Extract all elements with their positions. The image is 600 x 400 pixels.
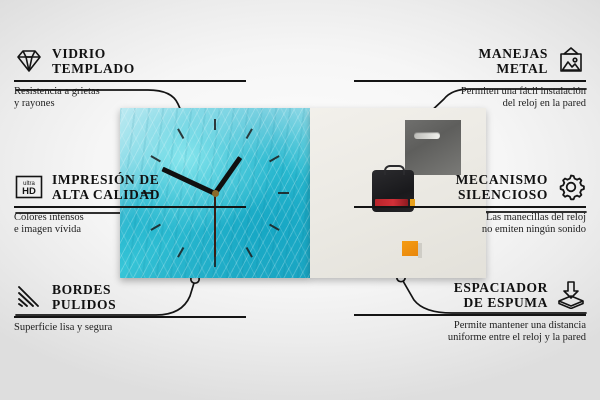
callout-rule [14, 80, 246, 82]
callout-rule [354, 206, 586, 208]
callout-description: Resistencia a grietas y rayones [14, 86, 246, 111]
callout-rule [14, 316, 246, 318]
callout-description: Las manecillas del reloj no emiten ningú… [354, 212, 586, 237]
clock-tick [246, 247, 253, 258]
wall-hanging-frame-icon [556, 47, 586, 75]
clock-tick [269, 155, 280, 162]
callout-title: BORDES PULIDOS [52, 282, 116, 312]
callout-description: Permite mantener una distancia uniforme … [354, 320, 586, 345]
callout-rule [354, 80, 586, 82]
clock-tick [246, 128, 253, 139]
clock-tick [177, 128, 184, 139]
callout-title: MANEJAS METAL [479, 46, 548, 76]
callout-manejas-metal: MANEJAS METAL Permiten una fácil instala… [354, 46, 586, 111]
callout-mecanismo-silencioso: MECANISMO SILENCIOSO Las manecillas del … [354, 172, 586, 237]
gear-icon [556, 173, 586, 201]
hanger-slot [414, 132, 440, 139]
callout-bordes-pulidos: BORDES PULIDOS Superficie lisa y segura [14, 282, 246, 334]
clock-tick [177, 247, 184, 258]
clock-tick [269, 224, 280, 231]
clock-tick [150, 155, 161, 162]
clock-tick [214, 119, 216, 130]
infographic-canvas: VIDRIO TEMPLADO Resistencia a grietas y … [0, 0, 600, 400]
foam-spacer-arrow-icon [556, 281, 586, 309]
metal-hanger-plate [405, 120, 461, 175]
callout-rule [354, 314, 586, 316]
ultra-hd-icon: ultra HD [14, 173, 44, 201]
callout-espaciador-espuma: ESPACIADOR DE ESPUMA Permite mantener un… [354, 280, 586, 345]
svg-text:HD: HD [22, 186, 36, 197]
orange-foam-spacer [402, 241, 418, 256]
diamond-icon [14, 47, 44, 75]
callout-title: ESPACIADOR DE ESPUMA [454, 280, 548, 310]
polished-edges-icon [14, 283, 44, 311]
callout-description: Permiten una fácil instalación del reloj… [354, 86, 586, 111]
callout-title: VIDRIO TEMPLADO [52, 46, 135, 76]
callout-description: Superficie lisa y segura [14, 322, 246, 335]
callout-rule [14, 206, 246, 208]
callout-vidrio-templado: VIDRIO TEMPLADO Resistencia a grietas y … [14, 46, 246, 111]
callout-description: Colores intensos e imagen vívida [14, 212, 246, 237]
clock-tick [214, 256, 216, 267]
clock-tick [278, 192, 289, 194]
callout-impresion-alta-calidad: ultra HD IMPRESIÓN DE ALTA CALIDAD Color… [14, 172, 246, 237]
callout-title: MECANISMO SILENCIOSO [456, 172, 548, 202]
callout-title: IMPRESIÓN DE ALTA CALIDAD [52, 172, 160, 202]
